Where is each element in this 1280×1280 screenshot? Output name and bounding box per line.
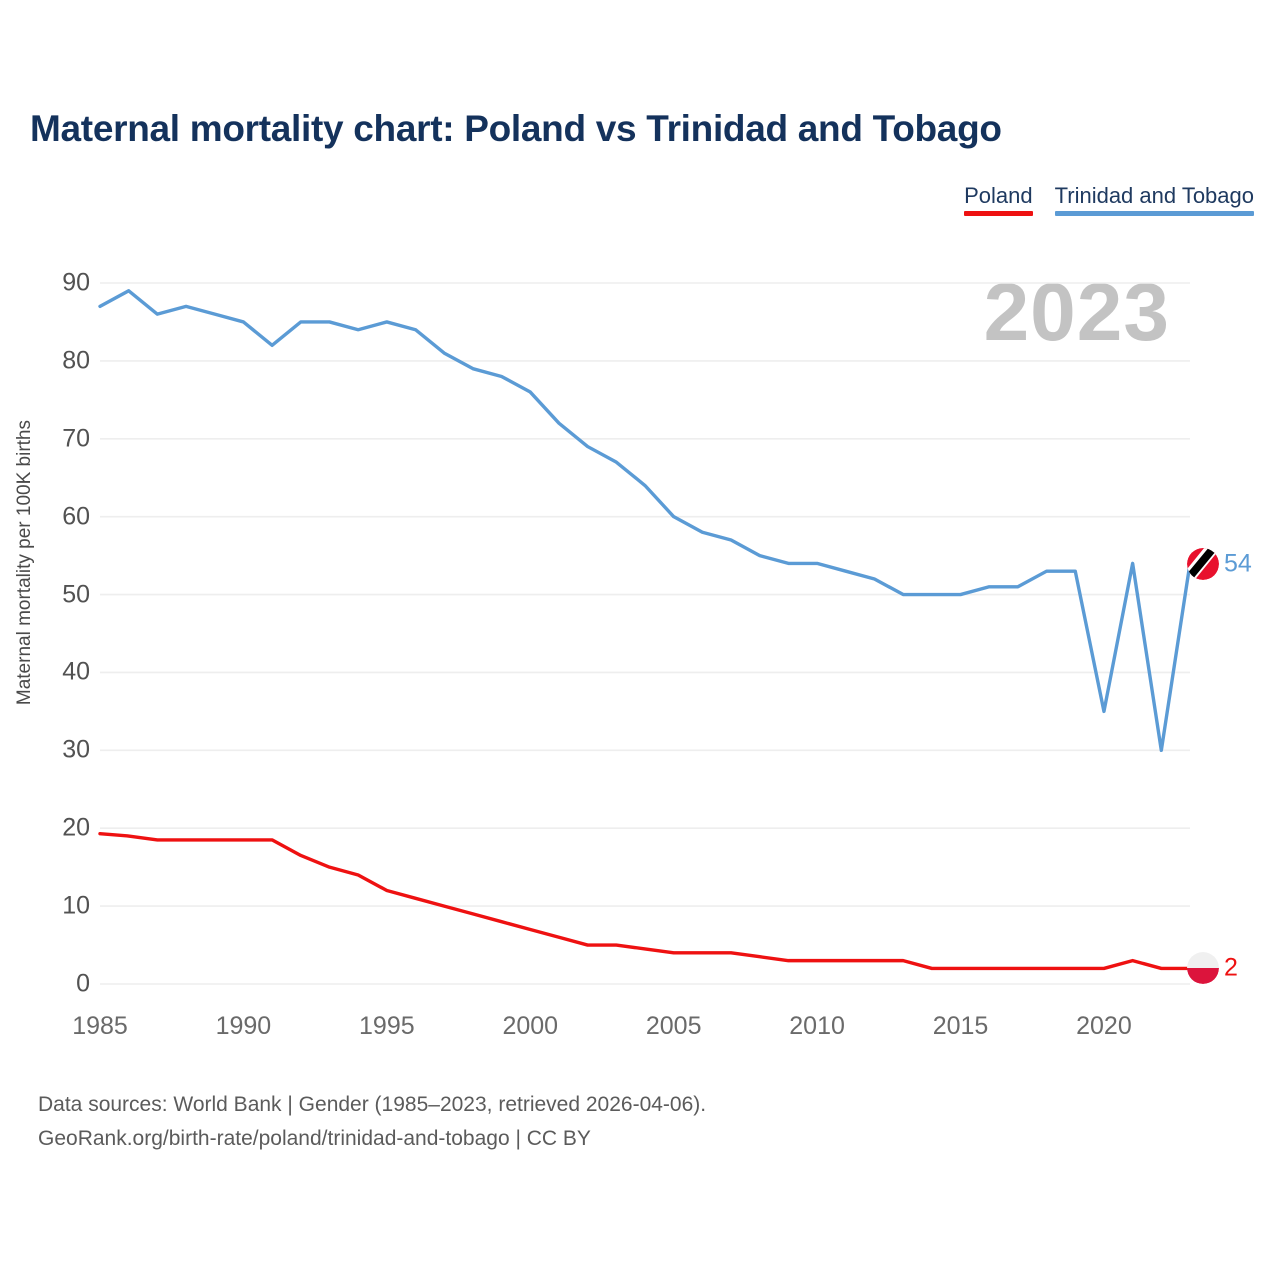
series-lines [100,291,1190,969]
footer: Data sources: World Bank | Gender (1985–… [38,1088,706,1156]
trinidad-and-tobago-flag-icon [1187,548,1219,580]
endpoint-value-trinidad-and-tobago: 54 [1224,550,1252,579]
footer-attribution: GeoRank.org/birth-rate/poland/trinidad-a… [38,1122,706,1156]
chart-page: Maternal mortality chart: Poland vs Trin… [0,0,1280,1280]
poland-flag-icon [1187,952,1219,984]
endpoint-value-poland: 2 [1224,954,1238,983]
gridlines [100,283,1190,984]
series-line-trinidad-and-tobago [100,291,1190,751]
footer-data-sources: Data sources: World Bank | Gender (1985–… [38,1088,706,1122]
series-line-poland [100,834,1190,969]
